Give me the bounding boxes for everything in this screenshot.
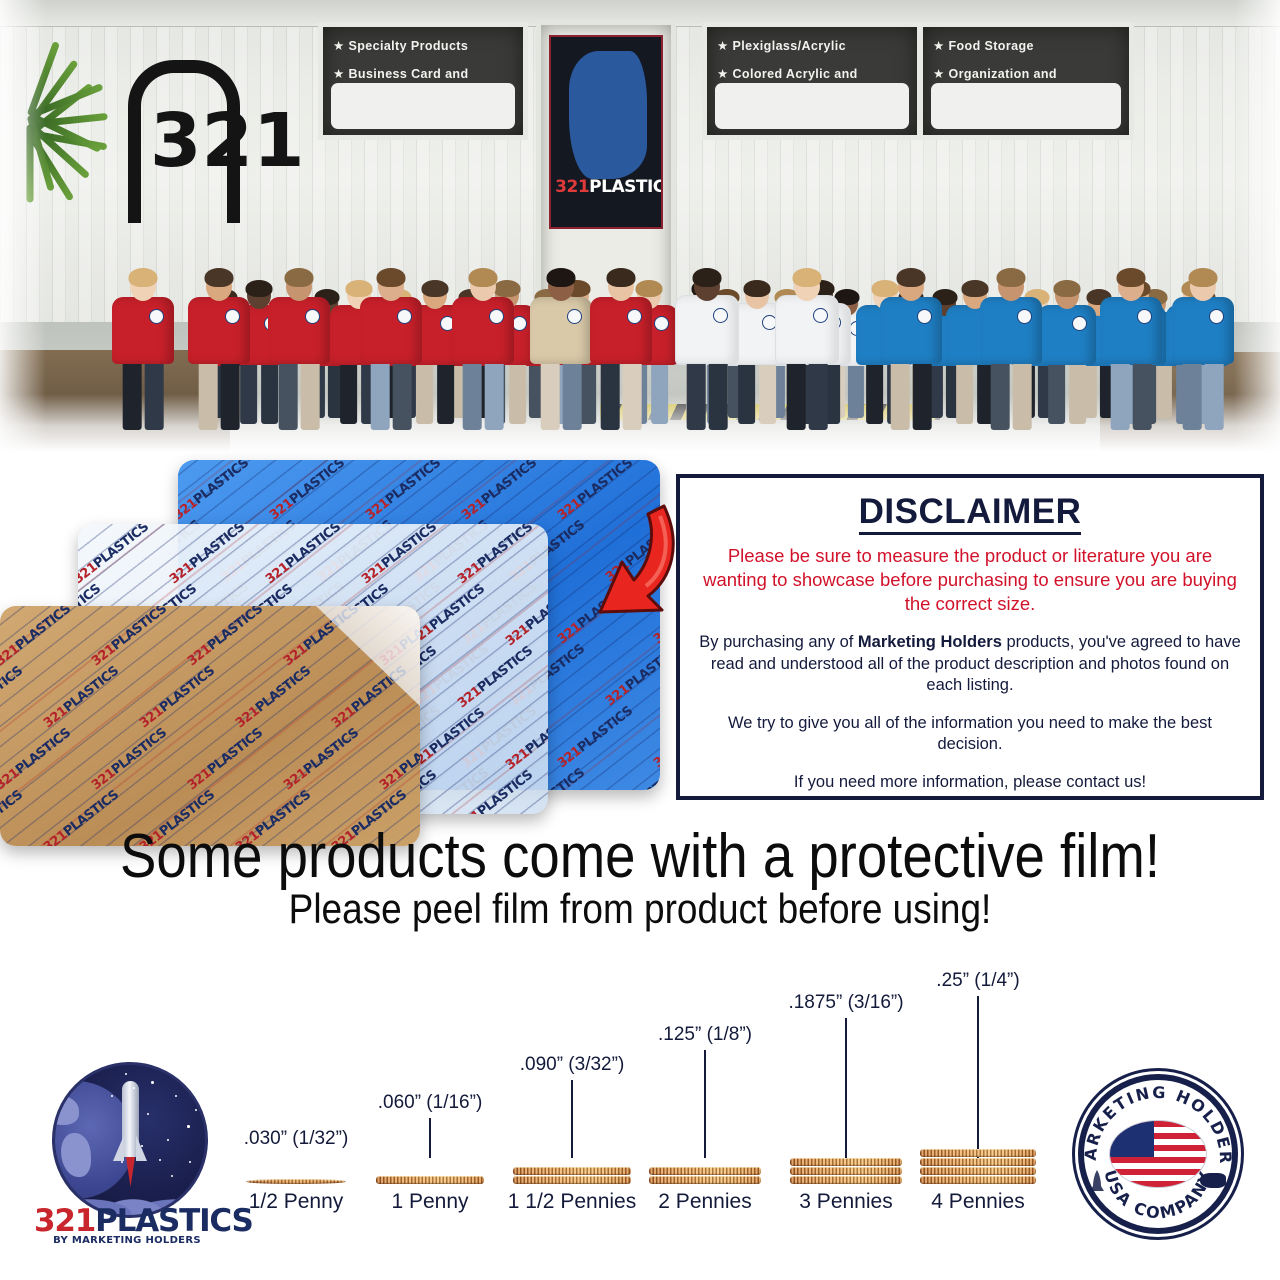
hair <box>1117 268 1146 287</box>
legs <box>889 356 934 430</box>
star <box>167 1139 169 1141</box>
thickness-annotation: .030” (1/32”) <box>244 1128 349 1150</box>
penny-column: .125” (1/8”)2 Pennies <box>649 970 761 1220</box>
logo-tagline: BY MARKETING HOLDERS <box>34 1235 220 1246</box>
door-banner-logo-number: 321 <box>555 177 589 197</box>
penny-coin <box>920 1158 1036 1166</box>
logo-badge <box>813 308 828 323</box>
penny-count-label: 3 Pennies <box>799 1190 892 1214</box>
penny-count-label: 1 Penny <box>391 1190 468 1214</box>
penny-column: .1875” (3/16”)3 Pennies <box>790 970 902 1220</box>
brand-name: Marketing Holders <box>858 633 1002 651</box>
sign-white-panel <box>331 83 515 129</box>
sign-white-panel <box>715 83 909 129</box>
torso-shirt <box>452 297 514 364</box>
page-subheadline: Please peel film from product before usi… <box>77 888 1203 930</box>
staff-member <box>590 236 652 430</box>
disclaimer-paragraph-information: We try to give you all of the informatio… <box>698 713 1242 756</box>
legs <box>785 356 830 430</box>
page-headline: Some products come with a protective fil… <box>77 826 1203 888</box>
door-banner: 321PLASTICS <box>549 35 663 229</box>
logo-marketing-holders: MARKETING HOLDERS USA COMPANY <box>1072 1068 1244 1240</box>
penny-coin <box>790 1167 902 1175</box>
logo-badge <box>149 309 164 324</box>
leader-line <box>429 1118 431 1158</box>
torso-shirt <box>188 297 250 364</box>
logo-321-plastics: 321PLASTICS BY MARKETING HOLDERS <box>34 1062 220 1238</box>
hair <box>744 280 771 297</box>
penny-stack <box>376 1175 484 1184</box>
sign-food-storage: ★ Food Storage ★ Organization and DIY Ma… <box>918 22 1134 140</box>
penny-coin <box>649 1167 761 1175</box>
hair <box>129 268 158 287</box>
usa-map-graphic <box>569 51 647 179</box>
hair <box>607 268 636 287</box>
logo-badge <box>1017 309 1032 324</box>
thickness-annotation: .090” (3/32”) <box>520 1054 625 1076</box>
agreement-text-pre: By purchasing any of <box>699 633 858 651</box>
penny-stack <box>649 1166 761 1184</box>
penny-count-label: 2 Pennies <box>658 1190 751 1214</box>
usa-flag-icon <box>1109 1120 1207 1188</box>
logo-badge <box>1072 316 1087 331</box>
logo-badge <box>567 309 582 324</box>
leader-line <box>704 1050 706 1158</box>
legs <box>1109 356 1154 430</box>
star <box>147 1113 149 1115</box>
penny-coin <box>920 1167 1036 1175</box>
penny-column: .030” (1/32”)1/2 Penny <box>240 970 352 1220</box>
leader-line <box>977 996 979 1166</box>
hair <box>693 268 722 287</box>
torso-shirt <box>590 297 652 364</box>
building-numerals: 321 <box>120 60 230 250</box>
rocket-icon <box>1088 1170 1106 1192</box>
logo-badge <box>1137 309 1152 324</box>
team-photo: 321 ★ Specialty Products ★ Business Card… <box>0 0 1280 452</box>
sign-line: ★ Plexiglass/Acrylic <box>717 37 909 56</box>
star <box>141 1145 143 1147</box>
disclaimer-paragraph-agreement: By purchasing any of Marketing Holders p… <box>698 632 1242 697</box>
star <box>175 1095 177 1097</box>
hair <box>897 268 926 287</box>
hair <box>1189 268 1218 287</box>
logo-badge <box>627 309 642 324</box>
legs <box>461 356 506 430</box>
staff-member <box>452 236 514 430</box>
hair <box>793 268 822 287</box>
penny-stack <box>513 1166 631 1184</box>
thickness-annotation: .1875” (3/16”) <box>788 992 903 1014</box>
hair <box>1054 280 1081 297</box>
star <box>195 1109 197 1111</box>
staff-member <box>188 236 250 430</box>
torso-shirt <box>1172 297 1234 364</box>
disclaimer-warning-text: Please be sure to measure the product or… <box>698 544 1242 616</box>
logo-badge <box>917 309 932 324</box>
sign-line: ★ Specialty Products <box>333 37 515 56</box>
logo-badge <box>1209 309 1224 324</box>
torso-shirt <box>268 297 330 364</box>
logo-badge <box>397 309 412 324</box>
sign-line: ★ Food Storage <box>933 37 1121 56</box>
hair <box>997 268 1026 287</box>
star <box>187 1125 190 1128</box>
globe-emblem <box>52 1062 208 1218</box>
disclaimer-box: DISCLAIMER Please be sure to measure the… <box>676 474 1264 800</box>
sign-plexiglass-acrylic: ★ Plexiglass/Acrylic ★ Colored Acrylic a… <box>702 22 922 140</box>
door-banner-logo-word: PLASTICS <box>589 177 663 197</box>
legs <box>369 356 414 430</box>
staff-member <box>530 236 592 430</box>
disclaimer-title: DISCLAIMER <box>859 494 1082 535</box>
wall-number-text: 321 <box>150 104 304 178</box>
kraft-acrylic-sheet: 321PLASTICS321PLASTICS321PLASTICS321PLAS… <box>0 606 420 846</box>
legs <box>1181 356 1226 430</box>
star <box>171 1175 173 1177</box>
rocket-fin <box>136 1135 147 1161</box>
legs <box>1046 357 1088 424</box>
hair <box>469 268 498 287</box>
torso-shirt <box>1038 305 1096 365</box>
landmass <box>52 1143 53 1167</box>
star <box>111 1095 113 1097</box>
torso-shirt <box>675 295 739 364</box>
legs <box>989 356 1034 430</box>
penny-count-label: 1 1/2 Pennies <box>508 1190 636 1214</box>
staff-member <box>676 236 738 430</box>
logo-badge <box>489 309 504 324</box>
legs <box>121 356 166 430</box>
photo-left-fade <box>0 0 46 452</box>
legs <box>599 356 644 430</box>
staff-member <box>1038 249 1096 424</box>
sign-white-panel <box>931 83 1121 129</box>
penny-count-label: 1/2 Penny <box>249 1190 344 1214</box>
torso-shirt <box>112 297 174 364</box>
penny-column: .090” (3/32”)1 1/2 Pennies <box>508 970 636 1220</box>
staff-member <box>980 236 1042 430</box>
penny-stack <box>242 1178 350 1184</box>
hair <box>205 268 234 287</box>
logo-number: 321 <box>34 1203 95 1239</box>
staff-member <box>268 236 330 430</box>
penny-stack <box>790 1157 902 1184</box>
photo-right-fade <box>1234 0 1280 452</box>
logo-321-wordmark: 321PLASTICS <box>34 1206 220 1237</box>
staff-member <box>776 236 838 430</box>
staff-member <box>1172 236 1234 430</box>
rocket-flame <box>126 1157 135 1187</box>
sign-specialty-products: ★ Specialty Products ★ Business Card and… <box>318 22 528 140</box>
rocket-fin <box>113 1135 124 1161</box>
star <box>125 1073 127 1075</box>
penny-column: .25” (1/4”)4 Pennies <box>922 970 1034 1220</box>
penny-coin <box>513 1167 631 1175</box>
hair <box>547 268 576 287</box>
penny-count-label: 4 Pennies <box>931 1190 1024 1214</box>
disclaimer-paragraph-contact: If you need more information, please con… <box>698 772 1242 794</box>
penny-coin <box>790 1176 902 1184</box>
torso-shirt <box>880 297 942 364</box>
penny-coin <box>920 1149 1036 1157</box>
peel-film-arrow <box>556 500 686 628</box>
usa-map-icon <box>1200 1173 1226 1188</box>
logo-badge <box>225 309 240 324</box>
hair <box>422 280 449 297</box>
legs <box>277 356 322 430</box>
star <box>189 1161 191 1163</box>
leader-line <box>845 1018 847 1160</box>
thickness-annotation: .125” (1/8”) <box>658 1024 752 1046</box>
staff-member <box>880 236 942 430</box>
torso-shirt <box>530 297 592 364</box>
staff-member <box>1100 236 1162 430</box>
staff-member <box>112 236 174 430</box>
star <box>133 1087 135 1089</box>
hair <box>285 268 314 287</box>
landmass <box>61 1133 91 1177</box>
torso-shirt <box>775 295 839 364</box>
staff-member <box>360 236 422 430</box>
star <box>121 1161 123 1163</box>
door-banner-logo: 321PLASTICS <box>555 177 663 197</box>
penny-coin <box>376 1176 484 1184</box>
penny-coin <box>513 1176 631 1184</box>
star <box>181 1081 183 1083</box>
logo-word: PLASTICS <box>95 1203 253 1239</box>
penny-column: .060” (1/16”)1 Penny <box>375 970 485 1220</box>
torso-shirt <box>360 297 422 364</box>
torso-shirt <box>980 297 1042 364</box>
legs <box>539 356 584 430</box>
disclaimer-title-row: DISCLAIMER <box>698 494 1242 535</box>
thickness-annotation: .060” (1/16”) <box>378 1092 483 1114</box>
rocket-icon <box>113 1081 147 1187</box>
star <box>159 1159 161 1161</box>
star <box>151 1081 154 1084</box>
legs <box>685 356 730 430</box>
logo-badge <box>713 308 728 323</box>
leader-line <box>571 1080 573 1158</box>
hair <box>377 268 406 287</box>
legs <box>197 356 242 430</box>
landmass <box>52 1095 79 1125</box>
penny-coin <box>920 1176 1036 1184</box>
logo-badge <box>305 309 320 324</box>
thickness-annotation: .25” (1/4”) <box>936 970 1019 992</box>
penny-stack <box>920 1148 1036 1184</box>
torso-shirt <box>1100 297 1162 364</box>
penny-coin <box>790 1158 902 1166</box>
legs <box>736 357 778 424</box>
flag-canton <box>1110 1121 1154 1157</box>
logo-badge <box>654 316 669 331</box>
penny-coin <box>649 1176 761 1184</box>
penny-coin <box>246 1179 345 1184</box>
